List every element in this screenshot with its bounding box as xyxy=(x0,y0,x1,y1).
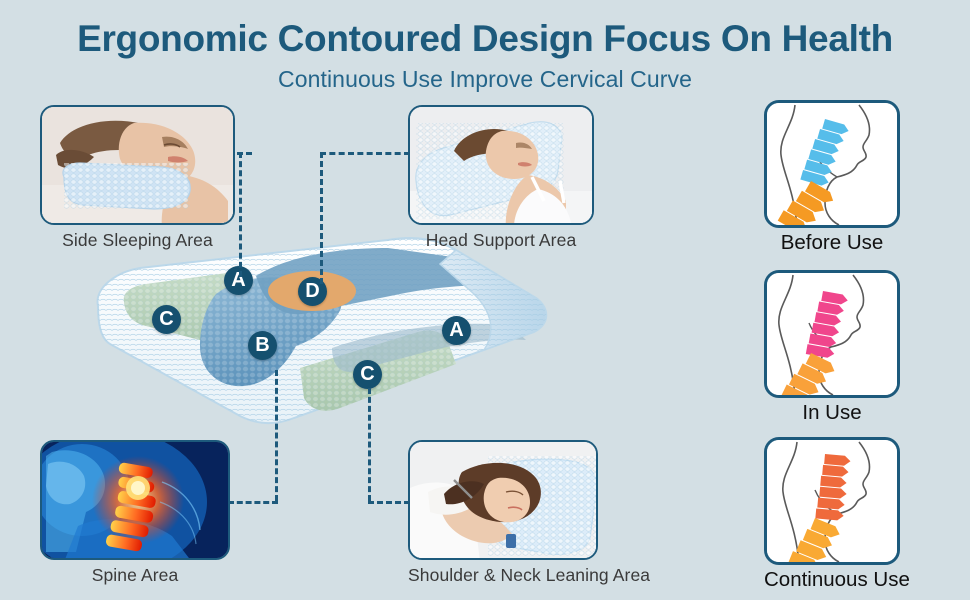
photo-spine xyxy=(42,442,228,558)
card-side-sleeping-frame xyxy=(40,105,235,225)
connector-c-right-horizontal xyxy=(368,501,410,504)
spine-diagram-before-use xyxy=(767,103,897,225)
photo-head-support xyxy=(410,107,592,223)
pillow-badge-a-right[interactable]: A xyxy=(442,316,471,345)
card-spine[interactable]: Spine Area xyxy=(40,440,230,586)
connector-a-left-vertical xyxy=(239,152,242,277)
card-shoulder-neck-caption: Shoulder & Neck Leaning Area xyxy=(408,565,598,586)
photo-shoulder-neck xyxy=(410,442,596,558)
card-before-use[interactable]: Before Use xyxy=(764,100,900,255)
pillow-badge-c-left[interactable]: C xyxy=(152,305,181,334)
card-in-use-frame xyxy=(764,270,900,398)
connector-b-horizontal xyxy=(228,501,278,504)
spine-diagram-continuous-use xyxy=(767,440,897,562)
card-in-use[interactable]: In Use xyxy=(764,270,900,425)
card-continuous-use[interactable]: Continuous Use xyxy=(764,437,900,592)
card-spine-caption: Spine Area xyxy=(40,565,230,586)
connector-d-horizontal xyxy=(320,152,410,155)
pillow-svg xyxy=(88,228,558,438)
card-in-use-label: In Use xyxy=(764,401,900,425)
card-head-support[interactable]: Head Support Area xyxy=(408,105,594,251)
card-before-use-label: Before Use xyxy=(764,231,900,255)
page-subtitle: Continuous Use Improve Cervical Curve xyxy=(0,66,970,93)
pillow-badge-c-right[interactable]: C xyxy=(353,360,382,389)
card-side-sleeping-caption: Side Sleeping Area xyxy=(40,230,235,251)
connector-d-vertical xyxy=(320,152,323,284)
connector-c-right-vertical xyxy=(368,388,371,501)
card-head-support-caption: Head Support Area xyxy=(408,230,594,251)
connector-b-vertical xyxy=(275,370,278,501)
photo-side-sleeping xyxy=(42,107,233,223)
pillow-badge-b[interactable]: B xyxy=(248,331,277,360)
card-continuous-use-label: Continuous Use xyxy=(764,568,900,592)
card-head-support-frame xyxy=(408,105,594,225)
card-before-use-frame xyxy=(764,100,900,228)
card-shoulder-neck-frame xyxy=(408,440,598,560)
pillow-illustration: A D C B C A xyxy=(88,228,558,438)
infographic-canvas: Ergonomic Contoured Design Focus On Heal… xyxy=(0,0,970,600)
card-side-sleeping[interactable]: Side Sleeping Area xyxy=(40,105,235,251)
spine-diagram-in-use xyxy=(767,273,897,395)
page-title: Ergonomic Contoured Design Focus On Heal… xyxy=(0,18,970,60)
card-continuous-use-frame xyxy=(764,437,900,565)
card-shoulder-neck[interactable]: Shoulder & Neck Leaning Area xyxy=(408,440,598,586)
card-spine-frame xyxy=(40,440,230,560)
